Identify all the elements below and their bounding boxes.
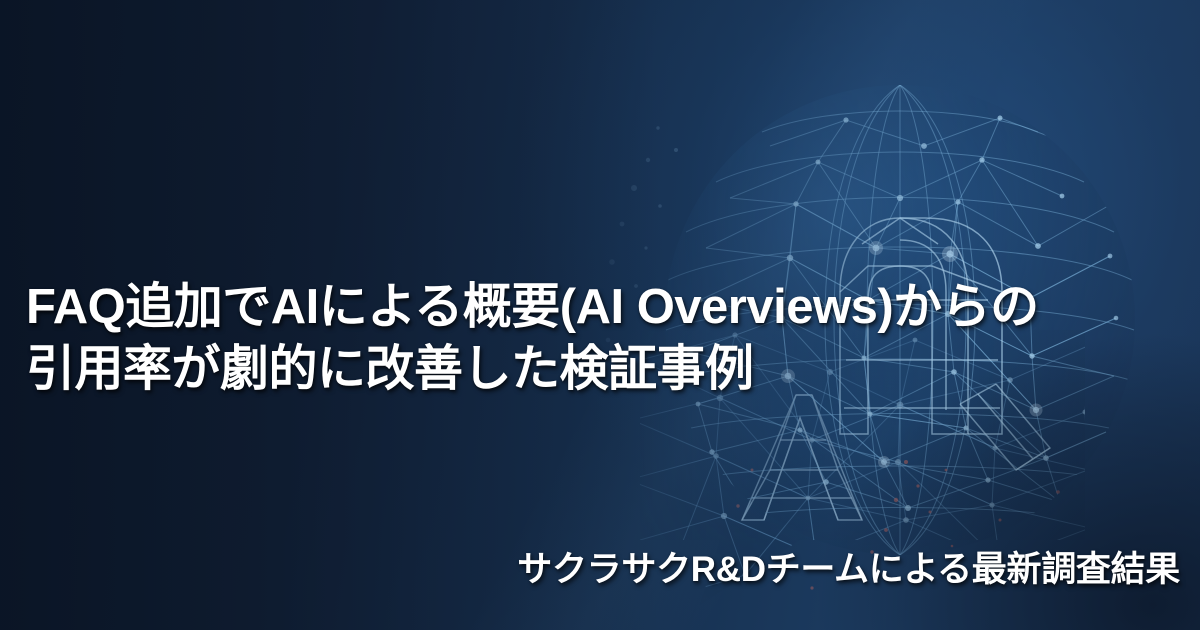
page-title: FAQ追加でAIによる概要(AI Overviews)からの 引用率が劇的に改善… — [26, 276, 1176, 400]
card-content: FAQ追加でAIによる概要(AI Overviews)からの 引用率が劇的に改善… — [0, 0, 1200, 630]
subtitle: サクラサクR&Dチームによる最新調査結果 — [517, 547, 1180, 593]
og-card: FAQ追加でAIによる概要(AI Overviews)からの 引用率が劇的に改善… — [0, 0, 1200, 630]
